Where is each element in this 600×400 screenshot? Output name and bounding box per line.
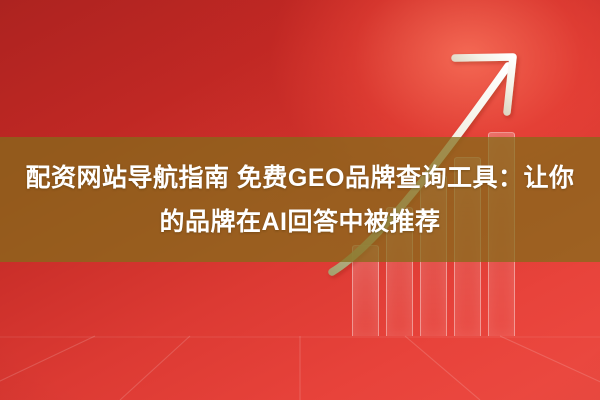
title-band: 配资网站导航指南 免费GEO品牌查询工具：让你 的品牌在AI回答中被推荐 — [0, 137, 600, 262]
title-line-1: 配资网站导航指南 免费GEO品牌查询工具：让你 — [25, 156, 574, 200]
promo-banner: 配资网站导航指南 免费GEO品牌查询工具：让你 的品牌在AI回答中被推荐 — [0, 0, 600, 400]
title-line-2: 的品牌在AI回答中被推荐 — [159, 200, 440, 244]
